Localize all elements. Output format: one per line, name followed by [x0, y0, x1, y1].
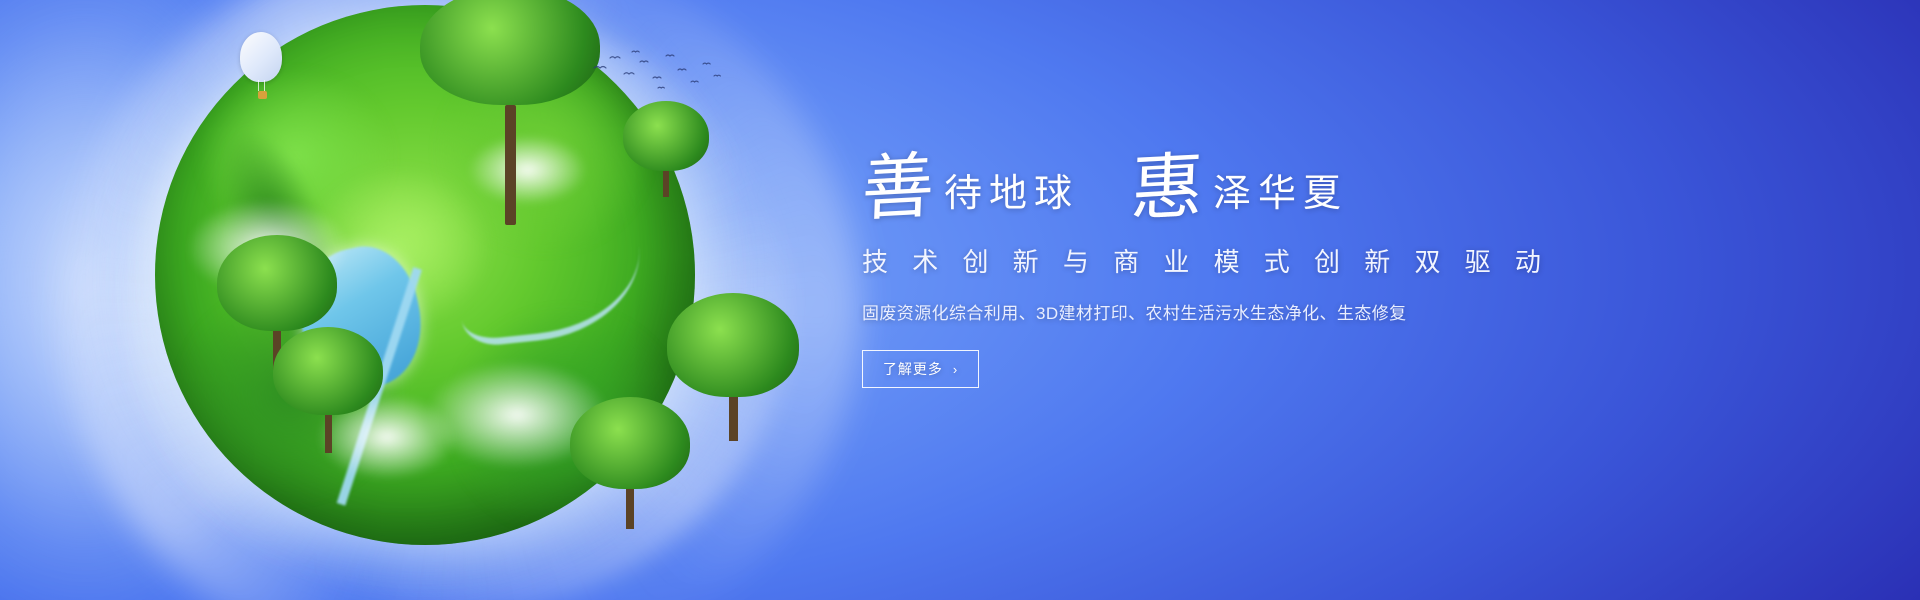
tree-crown	[217, 235, 337, 331]
tree-trunk	[663, 171, 669, 197]
hero-description: 固废资源化综合利用、3D建材打印、农村生活污水生态净化、生态修复	[862, 299, 1482, 324]
headline-rest-2: 泽华夏	[1213, 174, 1348, 220]
balloon-envelope	[240, 32, 282, 82]
headline-brush-char-1: 善	[861, 152, 936, 222]
globe-cloud	[468, 135, 587, 205]
tree-crown	[667, 293, 799, 397]
tree-trunk	[505, 105, 516, 225]
balloon-basket	[258, 91, 267, 99]
hero-copy: 善 待地球 惠 泽华夏 技 术 创 新 与 商 业 模 式 创 新 双 驱 动 …	[862, 128, 1482, 388]
tree-crown	[570, 397, 690, 489]
tree-crown	[273, 327, 383, 415]
tree-icon	[273, 327, 383, 437]
learn-more-label: 了解更多	[883, 359, 943, 379]
hero-subtitle: 技 术 创 新 与 商 业 模 式 创 新 双 驱 动	[862, 242, 1482, 279]
tree-crown	[623, 101, 709, 171]
tree-icon	[420, 0, 600, 137]
tree-icon	[570, 397, 690, 515]
chevron-right-icon: ›	[953, 363, 958, 376]
tree-icon	[623, 101, 709, 187]
page-title: 善 待地球 惠 泽华夏	[862, 128, 1482, 220]
headline-brush-char-2: 惠	[1130, 152, 1205, 222]
balloon-ropes	[258, 80, 265, 91]
headline-phrase-2: 惠 泽华夏	[1131, 154, 1348, 220]
headline-phrase-1: 善 待地球	[862, 154, 1079, 220]
headline-rest-1: 待地球	[944, 174, 1079, 220]
hero-banner: 善 待地球 惠 泽华夏 技 术 创 新 与 商 业 模 式 创 新 双 驱 动 …	[0, 0, 1920, 600]
hot-air-balloon-icon	[240, 32, 284, 102]
learn-more-button[interactable]: 了解更多 ›	[862, 350, 979, 388]
tree-crown	[420, 0, 600, 105]
tree-trunk	[325, 415, 332, 453]
tree-trunk	[729, 397, 738, 441]
birds-icon	[590, 48, 730, 94]
tree-trunk	[626, 489, 634, 529]
